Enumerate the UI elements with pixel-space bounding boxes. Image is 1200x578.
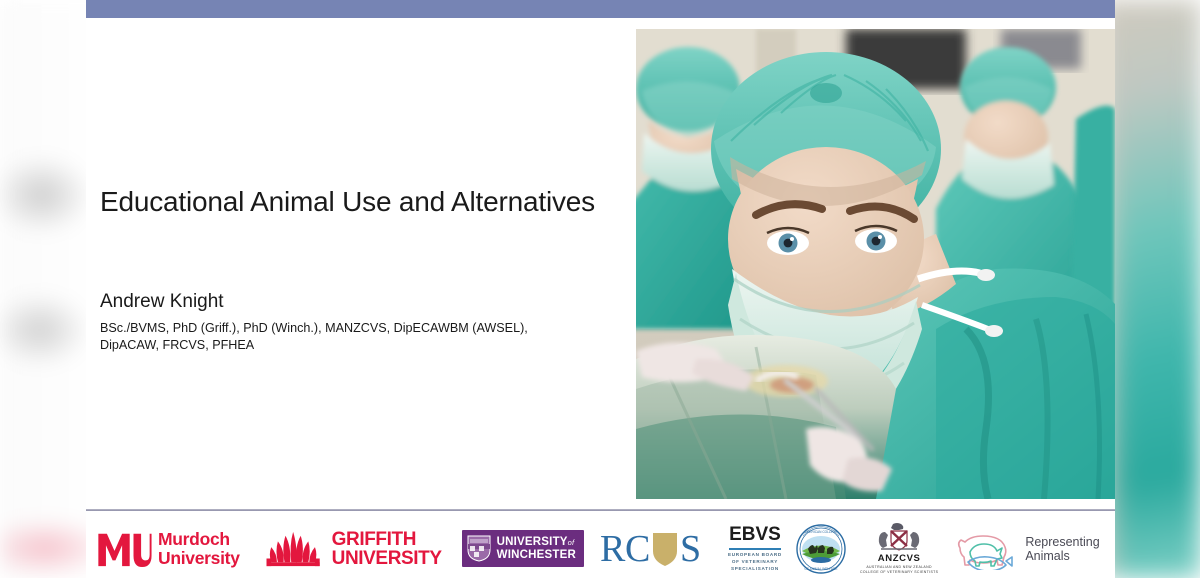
author-name: Andrew Knight [100, 290, 640, 314]
murdoch-line-2: University [158, 549, 240, 567]
acaw-seal-icon: AMERICAN COLLEGE OF ANIMAL WELFARE [796, 524, 846, 574]
ebvs-rule [729, 548, 781, 550]
representing-animals-line-1: Representing [1025, 535, 1099, 549]
representing-animals-wordmark: Representing Animals [1025, 535, 1099, 563]
logo-representing-animals[interactable]: Representing Animals [954, 528, 1099, 570]
anzcvs-sub-line-2: COLLEGE OF VETERINARY SCIENTISTS [860, 570, 938, 575]
page-title: Educational Animal Use and Alternatives [100, 185, 640, 219]
credentials-line-1: BSc./BVMS, PhD (Griff.), PhD (Winch.), M… [100, 320, 620, 337]
winchester-line-2: WINCHESTER [497, 549, 576, 562]
svg-text:C: C [625, 528, 650, 570]
slide-canvas: Educational Animal Use and Alternatives … [86, 0, 1115, 578]
credentials-line-2: DipACAW, FRCVS, PFHEA [100, 337, 620, 354]
footer-divider [86, 509, 1115, 511]
winchester-university-word: UNIVERSITY [497, 536, 568, 548]
partner-logo-strip: Murdoch University [86, 519, 1115, 578]
svg-text:R: R [600, 528, 626, 570]
winchester-shield-icon [467, 535, 491, 562]
svg-text:AMERICAN COLLEGE: AMERICAN COLLEGE [805, 530, 838, 534]
murdoch-wordmark: Murdoch University [158, 530, 240, 566]
griffith-line-2: UNIVERSITY [332, 549, 442, 568]
logo-griffith-university[interactable]: GRIFFITH UNIVERSITY [264, 530, 442, 568]
rcvs-wordmark-icon: R C S [600, 527, 712, 571]
logo-rcvs[interactable]: R C S [600, 527, 712, 571]
svg-text:OF ANIMAL WELFARE: OF ANIMAL WELFARE [804, 567, 837, 571]
ebvs-sub-line-3: SPECIALISATION [728, 566, 782, 573]
ebvs-letters-row: EBVS [729, 524, 781, 546]
svg-text:S: S [680, 528, 701, 570]
winchester-line-1: UNIVERSITYof [497, 536, 576, 549]
ebvs-subtitle: EUROPEAN BOARD OF VETERINARY SPECIALISAT… [728, 552, 782, 573]
logo-anzcvs[interactable]: ANZCVS AUSTRALIAN AND NEW ZEALAND COLLEG… [860, 522, 938, 576]
ebvs-sub-line-2: OF VETERINARY [728, 559, 782, 566]
author-credentials: BSc./BVMS, PhD (Griff.), PhD (Winch.), M… [100, 320, 620, 353]
accent-top-bar [86, 0, 1115, 18]
ebvs-sub-line-1: EUROPEAN BOARD [728, 552, 782, 559]
anzcvs-subtitle: AUSTRALIAN AND NEW ZEALAND COLLEGE OF VE… [860, 565, 938, 576]
winchester-of-word: of [568, 538, 575, 547]
ebvs-letters: EBVS [729, 524, 781, 546]
logo-university-of-winchester[interactable]: UNIVERSITYof WINCHESTER [462, 530, 584, 567]
winchester-wordmark: UNIVERSITYof WINCHESTER [497, 536, 576, 562]
logo-murdoch-university[interactable]: Murdoch University [96, 530, 240, 568]
griffith-flame-icon [264, 530, 326, 568]
murdoch-line-1: Murdoch [158, 530, 240, 548]
logo-ebvs[interactable]: EBVS EUROPEAN BOARD OF VETERINARY SPECIA… [728, 524, 782, 572]
surgery-photo [636, 29, 1115, 499]
murdoch-mu-monogram-icon [96, 530, 152, 568]
anzcvs-crest-icon [871, 522, 927, 552]
griffith-line-1: GRIFFITH [332, 530, 442, 549]
logo-american-college-animal-welfare[interactable]: AMERICAN COLLEGE OF ANIMAL WELFARE [796, 524, 846, 574]
representing-animals-line-2: Animals [1025, 549, 1099, 563]
backdrop-right-blur [1100, 0, 1200, 578]
anzcvs-letters: ANZCVS [878, 553, 921, 564]
griffith-wordmark: GRIFFITH UNIVERSITY [332, 530, 442, 568]
representing-animals-icon [954, 528, 1018, 570]
